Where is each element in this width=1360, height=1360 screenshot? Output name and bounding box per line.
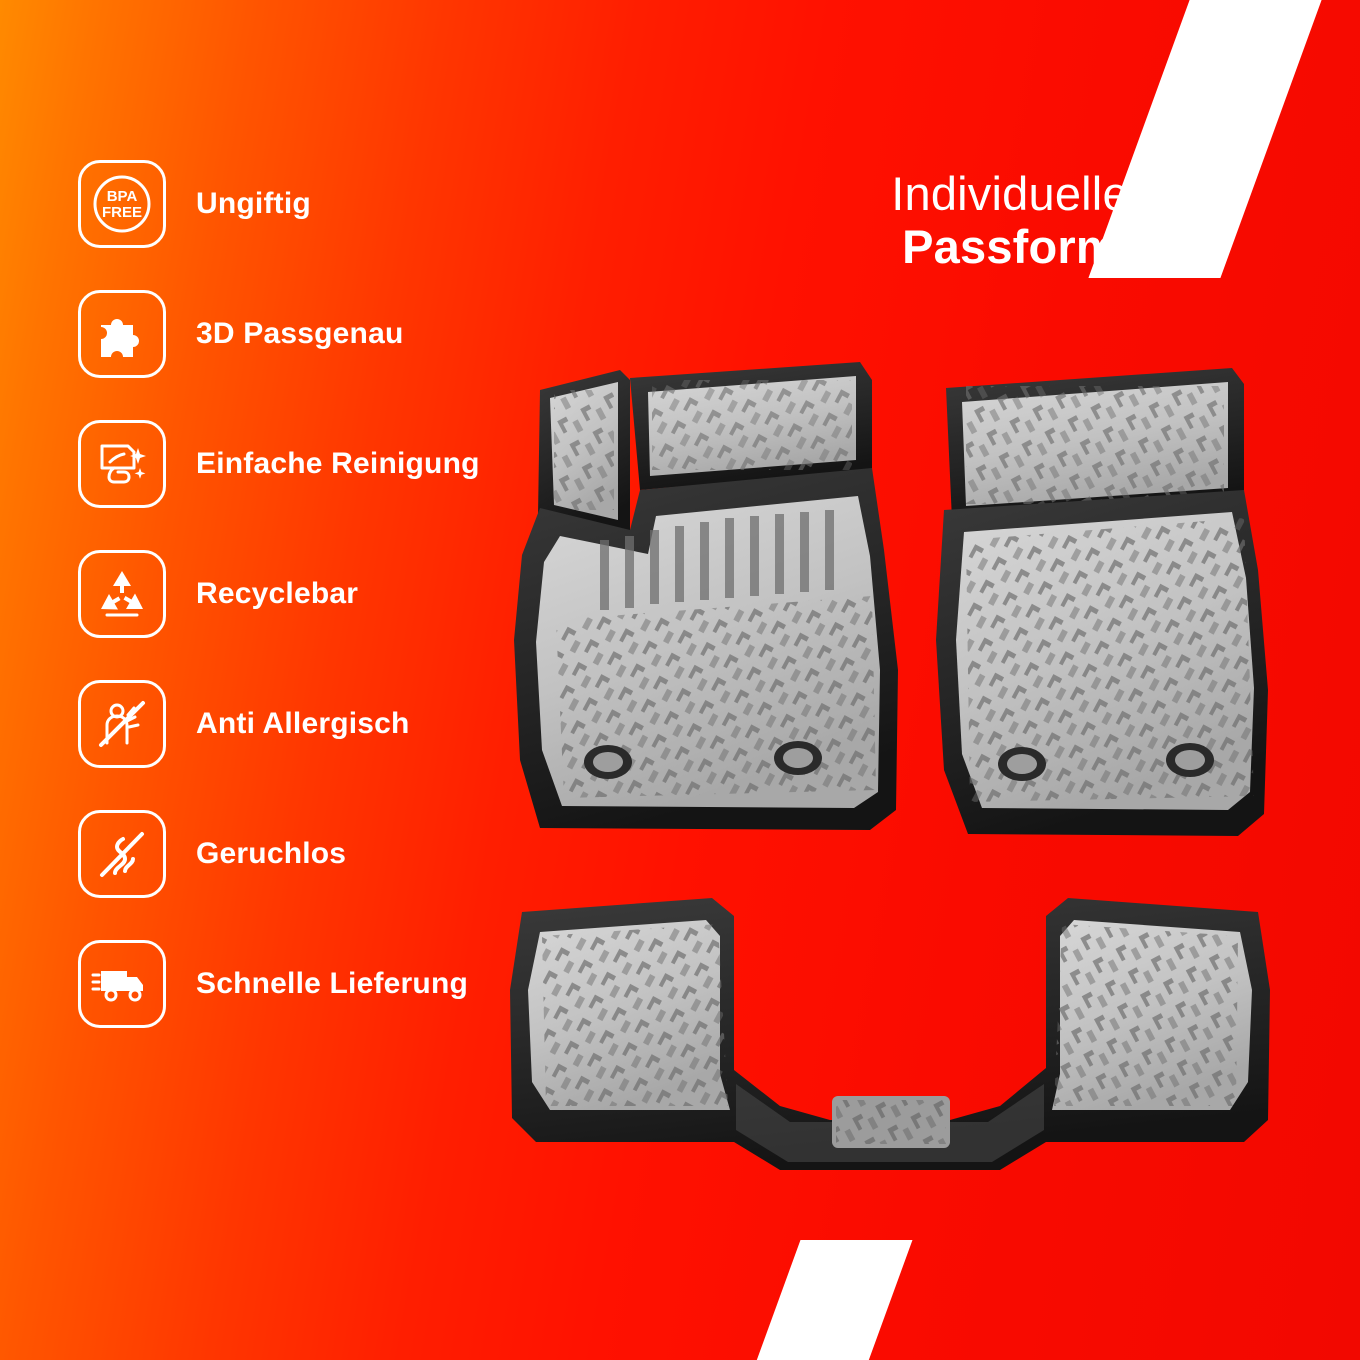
feature-item-ungiftig: BPA FREE Ungiftig <box>78 160 598 248</box>
feature-label: Geruchlos <box>196 836 346 873</box>
recycle-icon <box>78 550 166 638</box>
feature-label: Anti Allergisch <box>196 706 410 743</box>
decorative-stripe-bottom <box>750 1240 913 1360</box>
promo-banner: Individuelle Passform BPA FREE Ungiftig … <box>0 0 1360 1360</box>
no-smell-icon <box>78 810 166 898</box>
page-title: Individuelle Passform <box>700 168 1320 273</box>
feature-label: Ungiftig <box>196 186 311 223</box>
feature-label: Schnelle Lieferung <box>196 966 468 1003</box>
no-allergy-icon <box>78 680 166 768</box>
headline-line-1: Individuelle <box>700 168 1320 221</box>
front-right-mat <box>936 368 1268 836</box>
feature-label: Einfache Reinigung <box>196 446 480 483</box>
product-image-car-floor-mats <box>480 340 1300 1180</box>
bpa-free-icon: BPA FREE <box>78 160 166 248</box>
feature-label: Recyclebar <box>196 576 358 613</box>
delivery-truck-icon <box>78 940 166 1028</box>
front-left-mat <box>514 362 898 830</box>
feature-label: 3D Passgenau <box>196 316 404 353</box>
cleaning-hand-icon <box>78 420 166 508</box>
svg-text:BPA: BPA <box>107 188 138 205</box>
svg-text:FREE: FREE <box>102 204 142 221</box>
headline-line-2: Passform <box>700 221 1320 274</box>
puzzle-piece-icon <box>78 290 166 378</box>
rear-bench-mat <box>510 898 1270 1170</box>
